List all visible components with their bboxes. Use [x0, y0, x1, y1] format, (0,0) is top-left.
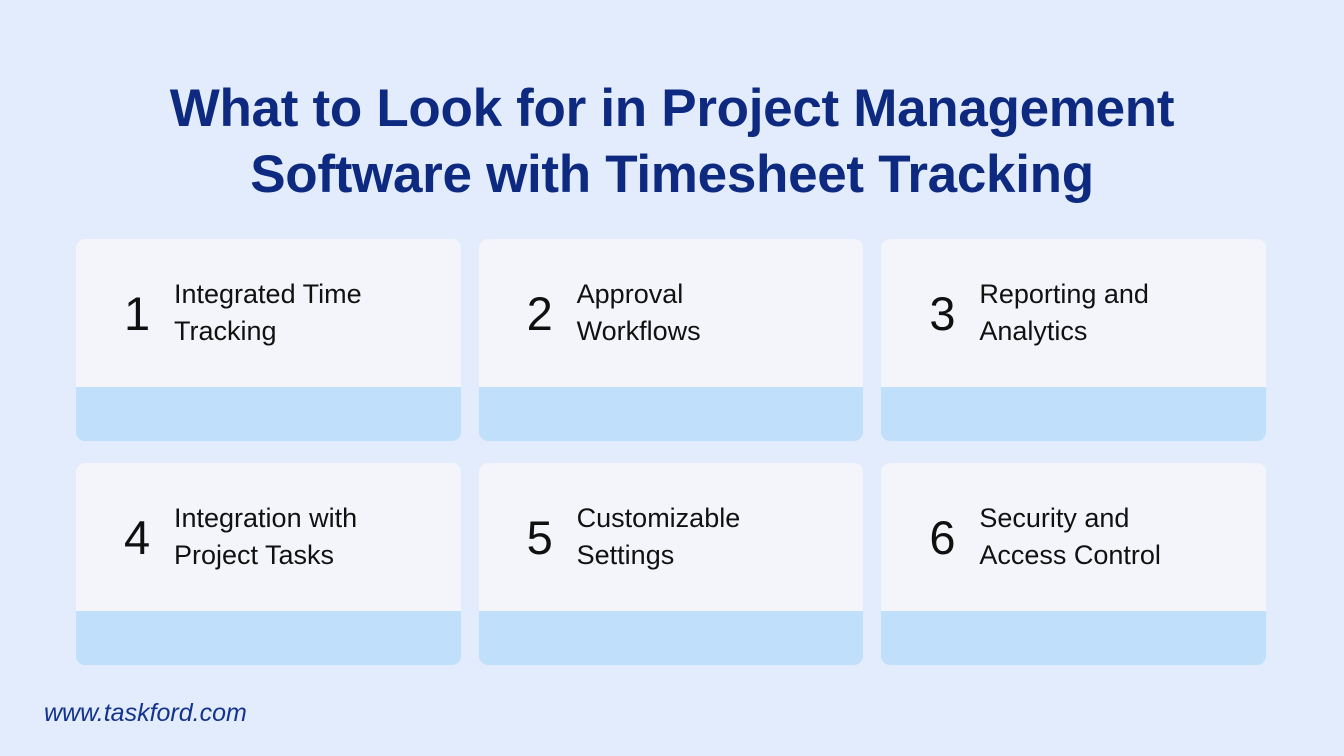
feature-card-2-title: ApprovalWorkflows — [577, 276, 701, 350]
feature-card-6-title-line-1: Security and — [979, 503, 1129, 533]
feature-card-2-body: 2 ApprovalWorkflows — [479, 239, 864, 387]
feature-card-4-title: Integration withProject Tasks — [174, 500, 357, 574]
feature-card-2[interactable]: 2 ApprovalWorkflows — [479, 239, 864, 441]
site-url[interactable]: www.taskford.com — [44, 698, 247, 728]
feature-card-4-title-line-1: Integration with — [174, 503, 357, 533]
feature-card-6-title-line-2: Access Control — [979, 540, 1161, 570]
feature-card-3-title-line-1: Reporting and — [979, 279, 1149, 309]
feature-card-1-accent-bar — [76, 387, 461, 441]
feature-card-5-title: CustomizableSettings — [577, 500, 741, 574]
page-title-line-2: Software with Timesheet Tracking — [250, 145, 1094, 204]
feature-card-1-body: 1 Integrated TimeTracking — [76, 239, 461, 387]
page-title-line-1: What to Look for in Project Management — [170, 79, 1174, 138]
feature-card-3-number: 3 — [929, 290, 967, 337]
feature-card-1-number: 1 — [124, 290, 162, 337]
feature-card-4-accent-bar — [76, 611, 461, 665]
feature-card-6-title: Security andAccess Control — [979, 500, 1161, 574]
feature-card-5-body: 5 CustomizableSettings — [479, 463, 864, 611]
page-title: What to Look for in Project ManagementSo… — [90, 76, 1254, 208]
feature-card-2-title-line-1: Approval — [577, 279, 684, 309]
feature-card-3-accent-bar — [881, 387, 1266, 441]
feature-card-1-title-line-2: Tracking — [174, 316, 277, 346]
feature-card-6-accent-bar — [881, 611, 1266, 665]
feature-card-4-number: 4 — [124, 514, 162, 561]
feature-card-1-title: Integrated TimeTracking — [174, 276, 362, 350]
feature-card-2-title-line-2: Workflows — [577, 316, 701, 346]
feature-card-1[interactable]: 1 Integrated TimeTracking — [76, 239, 461, 441]
feature-card-4[interactable]: 4 Integration withProject Tasks — [76, 463, 461, 665]
feature-card-6-body: 6 Security andAccess Control — [881, 463, 1266, 611]
feature-card-1-title-line-1: Integrated Time — [174, 279, 362, 309]
feature-card-2-number: 2 — [527, 290, 565, 337]
feature-card-6[interactable]: 6 Security andAccess Control — [881, 463, 1266, 665]
feature-card-4-title-line-2: Project Tasks — [174, 540, 334, 570]
feature-card-grid: 1 Integrated TimeTracking 2 ApprovalWork… — [76, 239, 1266, 665]
feature-card-5-accent-bar — [479, 611, 864, 665]
page-title-block: What to Look for in Project ManagementSo… — [0, 76, 1344, 208]
feature-card-3-title-line-2: Analytics — [979, 316, 1087, 346]
feature-card-3[interactable]: 3 Reporting andAnalytics — [881, 239, 1266, 441]
infographic-page: What to Look for in Project ManagementSo… — [0, 0, 1344, 756]
feature-card-3-title: Reporting andAnalytics — [979, 276, 1149, 350]
feature-card-4-body: 4 Integration withProject Tasks — [76, 463, 461, 611]
feature-card-6-number: 6 — [929, 514, 967, 561]
feature-card-5-number: 5 — [527, 514, 565, 561]
feature-card-5-title-line-2: Settings — [577, 540, 675, 570]
feature-card-5-title-line-1: Customizable — [577, 503, 741, 533]
feature-card-5[interactable]: 5 CustomizableSettings — [479, 463, 864, 665]
feature-card-2-accent-bar — [479, 387, 864, 441]
feature-card-3-body: 3 Reporting andAnalytics — [881, 239, 1266, 387]
